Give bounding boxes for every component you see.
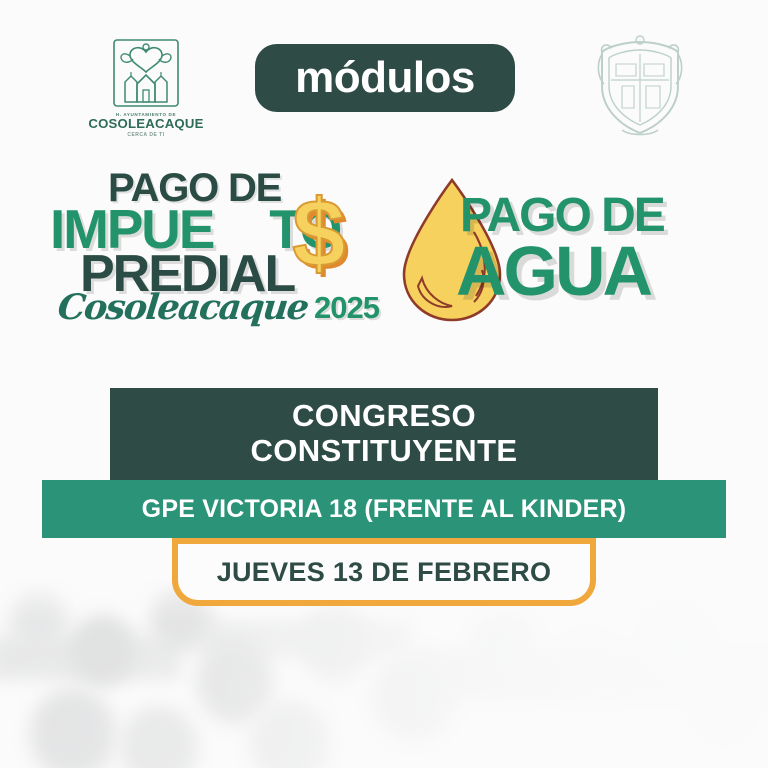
- date-banner: JUEVES 13 DE FEBRERO: [172, 538, 596, 606]
- address-text: GPE VICTORIA 18 (FRENTE AL KINDER): [142, 495, 627, 524]
- venue-banner: CONGRESO CONSTITUYENTE: [110, 388, 658, 480]
- predial-script: Cosoleacaque: [56, 290, 309, 325]
- background-photo: [0, 580, 768, 768]
- veracruz-shield-seal-icon: [592, 34, 688, 138]
- venue-line2: CONSTITUYENTE: [251, 434, 518, 469]
- municipality-logo-line3: CERCA DE TI: [88, 132, 204, 138]
- municipality-logo: H. AYUNTAMIENTO DE COSOLEACAQUE CERCA DE…: [88, 38, 204, 138]
- modulos-badge: módulos: [255, 44, 515, 112]
- venue-line1: CONGRESO: [292, 399, 476, 434]
- municipality-logo-line2: COSOLEACAQUE: [88, 117, 204, 131]
- modulos-badge-label: módulos: [295, 56, 475, 100]
- dollar-sign-icon: $ $: [286, 194, 360, 286]
- predial-logo: PAGO DE IMPUETO $ $ PREDIAL Cosoleacaque…: [50, 168, 400, 338]
- header-row: H. AYUNTAMIENTO DE COSOLEACAQUE CERCA DE…: [0, 0, 768, 150]
- svg-text:$: $: [292, 194, 345, 286]
- predial-year: 2025: [314, 292, 379, 323]
- address-banner: GPE VICTORIA 18 (FRENTE AL KINDER): [42, 480, 726, 538]
- agua-line2: AGUA: [456, 236, 650, 306]
- cosoleacaque-crest-icon: [111, 38, 181, 110]
- date-text: JUEVES 13 DE FEBRERO: [217, 557, 552, 588]
- agua-logo: PAGO DE AGUA: [396, 170, 726, 335]
